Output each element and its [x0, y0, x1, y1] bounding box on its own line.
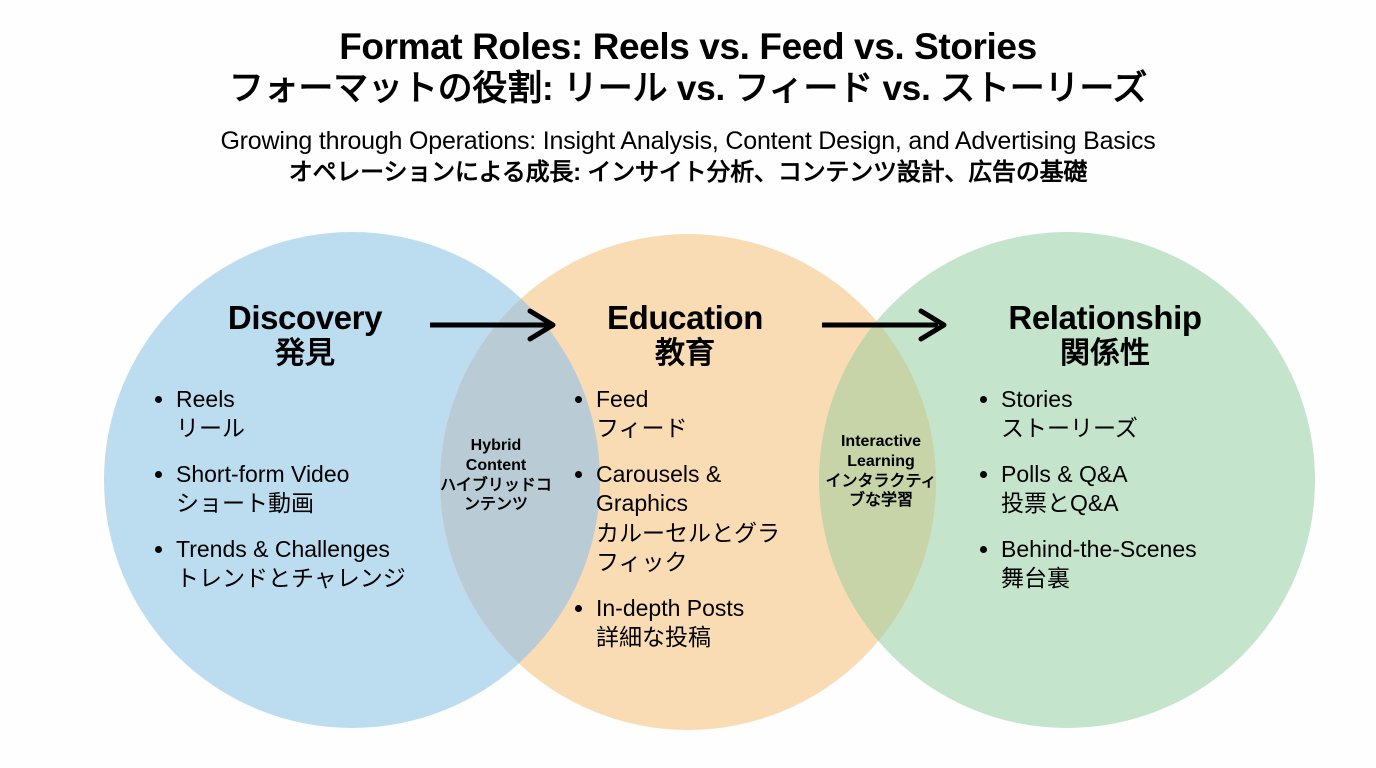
- lobe-discovery-heading-ja: 発見: [150, 336, 460, 371]
- list-item-ja: カルーセルとグラフィック: [596, 519, 800, 578]
- list-item-ja: フィード: [596, 414, 800, 443]
- intersection-label-interactive-learning-en: Interactive Learning: [825, 432, 937, 472]
- list-item-en: Stories: [1001, 385, 1255, 414]
- list-item-en: Reels: [176, 385, 460, 414]
- list-item-ja: 投票とQ&A: [1001, 489, 1255, 518]
- list-item-ja: 舞台裏: [1001, 564, 1255, 593]
- intersection-label-interactive-learning: Interactive Learning インタラクティブな学習: [825, 432, 937, 511]
- list-item-ja: 詳細な投稿: [596, 623, 800, 652]
- list-item-en: Trends & Challenges: [176, 535, 460, 564]
- lobe-relationship-heading-en: Relationship: [955, 300, 1255, 336]
- intersection-label-interactive-learning-ja: インタラクティブな学習: [825, 472, 937, 512]
- lobe-education-heading-ja: 教育: [570, 336, 800, 371]
- intersection-label-hybrid-content-ja: ハイブリッドコンテンツ: [440, 476, 552, 516]
- list-item: Behind-the-Scenes 舞台裏: [975, 535, 1255, 594]
- lobe-education-heading-en: Education: [570, 300, 800, 336]
- lobe-relationship-list: Stories ストーリーズ Polls & Q&A 投票とQ&A Behind…: [975, 385, 1255, 594]
- intersection-label-hybrid-content-en: Hybrid Content: [440, 436, 552, 476]
- intersection-label-hybrid-content: Hybrid Content ハイブリッドコンテンツ: [440, 436, 552, 515]
- list-item: Carousels & Graphics カルーセルとグラフィック: [570, 460, 800, 578]
- list-item: In-depth Posts 詳細な投稿: [570, 594, 800, 653]
- lobe-discovery-list: Reels リール Short-form Video ショート動画 Trends…: [150, 385, 460, 594]
- lobe-education-list: Feed フィード Carousels & Graphics カルーセルとグラフ…: [570, 385, 800, 653]
- list-item-ja: リール: [176, 414, 460, 443]
- list-item-en: Polls & Q&A: [1001, 460, 1255, 489]
- list-item: Polls & Q&A 投票とQ&A: [975, 460, 1255, 519]
- list-item-ja: ショート動画: [176, 489, 460, 518]
- list-item-en: Behind-the-Scenes: [1001, 535, 1255, 564]
- list-item: Stories ストーリーズ: [975, 385, 1255, 444]
- list-item: Feed フィード: [570, 385, 800, 444]
- list-item-en: Short-form Video: [176, 460, 460, 489]
- list-item: Trends & Challenges トレンドとチャレンジ: [150, 535, 460, 594]
- list-item: Short-form Video ショート動画: [150, 460, 460, 519]
- list-item-en: Feed: [596, 385, 800, 414]
- list-item-en: Carousels & Graphics: [596, 460, 800, 519]
- list-item-en: In-depth Posts: [596, 594, 800, 623]
- lobe-relationship-heading-ja: 関係性: [955, 336, 1255, 371]
- lobe-relationship: Relationship 関係性 Stories ストーリーズ Polls & …: [955, 300, 1255, 610]
- list-item: Reels リール: [150, 385, 460, 444]
- lobe-education: Education 教育 Feed フィード Carousels & Graph…: [570, 300, 800, 669]
- lobe-discovery: Discovery 発見 Reels リール Short-form Video …: [150, 300, 460, 610]
- list-item-ja: ストーリーズ: [1001, 414, 1255, 443]
- lobe-discovery-heading-en: Discovery: [150, 300, 460, 336]
- list-item-ja: トレンドとチャレンジ: [176, 564, 460, 593]
